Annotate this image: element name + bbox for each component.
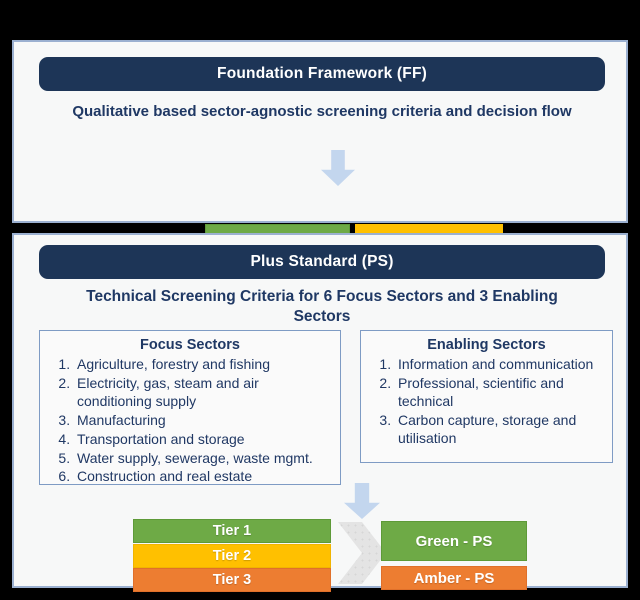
list-item: Transportation and storage [74,430,332,448]
diagram-canvas: Foundation Framework (FF) Qualitative ba… [0,0,640,600]
list-item: Carbon capture, storage and utilisation [395,411,604,448]
enabling-sectors-list: Information and communication Profession… [369,355,604,448]
foundation-framework-header: Foundation Framework (FF) [39,57,605,91]
plus-standard-header: Plus Standard (PS) [39,245,605,279]
enabling-sectors-box: Enabling Sectors Information and communi… [360,330,613,463]
focus-sectors-box: Focus Sectors Agriculture, forestry and … [39,330,341,485]
list-item: Agriculture, forestry and fishing [74,355,332,373]
plus-standard-description: Technical Screening Criteria for 6 Focus… [59,287,585,327]
list-item: Professional, scientific and technical [395,374,604,411]
list-item: Information and communication [395,355,604,373]
down-arrow-icon [321,150,355,186]
foundation-framework-panel: Foundation Framework (FF) Qualitative ba… [12,40,628,223]
focus-sectors-list: Agriculture, forestry and fishing Electr… [48,355,332,486]
list-item: Manufacturing [74,411,332,429]
list-item: Construction and real estate [74,467,332,485]
focus-sectors-title: Focus Sectors [48,337,332,353]
tier-3-bar: Tier 3 [133,568,331,592]
outcome-amber-ps: Amber - PS [381,566,527,590]
tier-2-bar: Tier 2 [133,544,331,568]
foundation-framework-description: Qualitative based sector-agnostic screen… [69,102,575,121]
enabling-sectors-title: Enabling Sectors [369,337,604,353]
list-item: Electricity, gas, steam and air conditio… [74,374,332,411]
tier-1-bar: Tier 1 [133,519,331,543]
outcome-green-ps: Green - PS [381,521,527,561]
list-item: Water supply, sewerage, waste mgmt. [74,449,332,467]
